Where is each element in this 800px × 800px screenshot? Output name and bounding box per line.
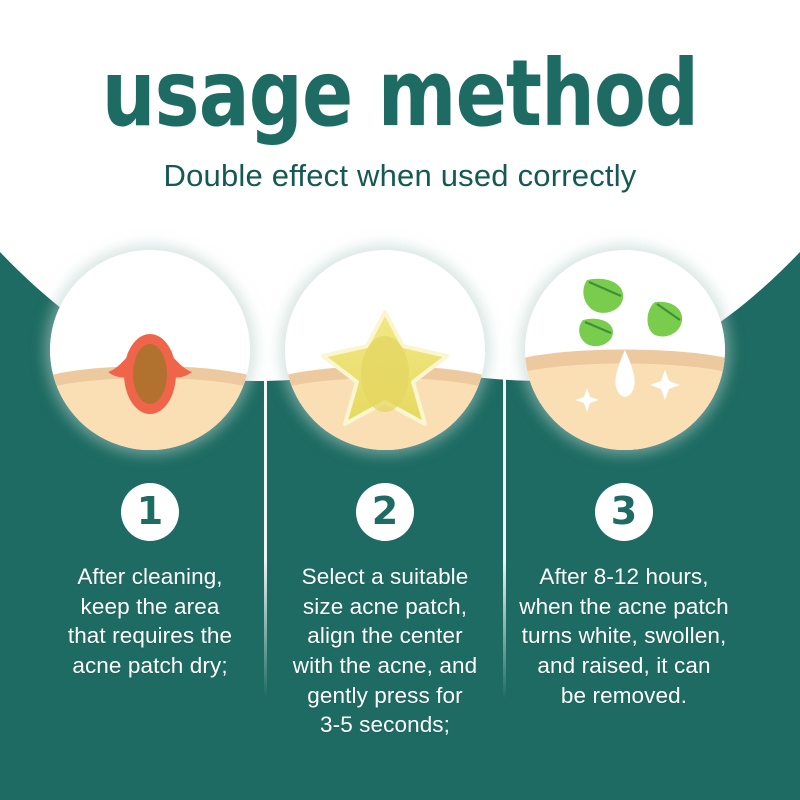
- step-3-text: After 8-12 hours, when the acne patch tu…: [506, 562, 742, 710]
- step-1-number-badge: 1: [121, 483, 179, 541]
- step-1: 1 After cleaning, keep the area that req…: [32, 483, 268, 681]
- step-2-text: Select a suitable size acne patch, align…: [267, 562, 503, 740]
- step-2-number-badge: 2: [356, 483, 414, 541]
- step-3: 3 After 8-12 hours, when the acne patch …: [506, 483, 742, 710]
- step-3-number-badge: 3: [595, 483, 653, 541]
- infographic-canvas: usage method Double effect when used cor…: [0, 0, 800, 800]
- step-1-text: After cleaning, keep the area that requi…: [32, 562, 268, 681]
- step-2: 2 Select a suitable size acne patch, ali…: [267, 483, 503, 740]
- steps-list: 1 After cleaning, keep the area that req…: [0, 0, 800, 800]
